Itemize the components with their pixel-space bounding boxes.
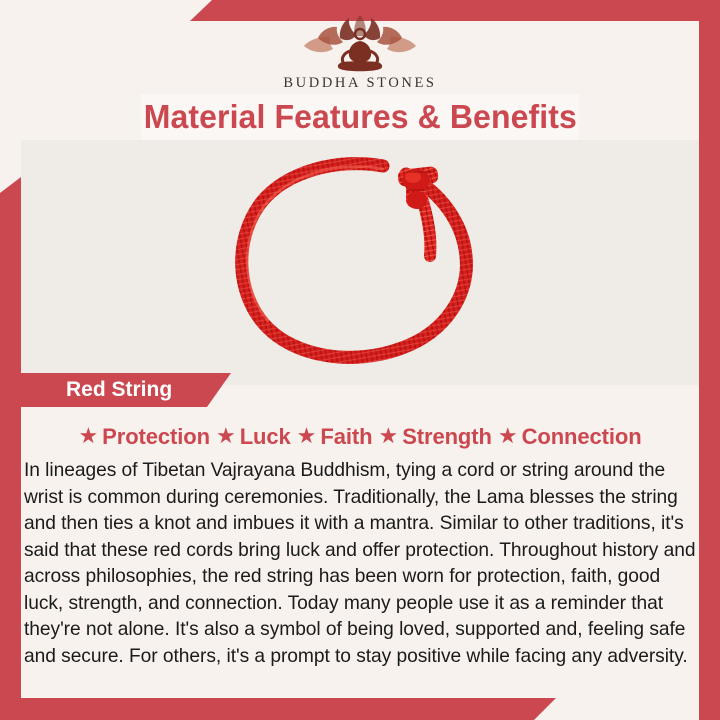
benefit-label: Strength [402,424,492,450]
description-block: In lineages of Tibetan Vajrayana Buddhis… [24,458,696,670]
benefit-label: Protection [102,424,210,450]
benefit-item-luck: ★ Luck [213,424,294,450]
benefit-item-connection: ★ Connection [495,424,645,450]
decor-bottom-bar [0,698,556,720]
description-text: In lineages of Tibetan Vajrayana Buddhis… [24,458,696,670]
star-icon: ★ [216,425,236,447]
benefit-item-protection: ★ Protection [75,424,213,450]
star-icon: ★ [378,425,398,447]
decor-left-bar [0,177,21,720]
product-image-panel [21,140,699,385]
benefit-label: Luck [240,424,291,450]
red-braided-string-bracelet [220,152,500,372]
product-name-label: Red String [21,378,172,402]
star-icon: ★ [78,425,98,447]
product-name-ribbon: Red String [21,373,231,407]
benefit-item-faith: ★ Faith [294,424,376,450]
decor-right-bar [699,21,720,720]
page-title: Material Features & Benefits [143,98,576,136]
benefit-label: Faith [320,424,372,450]
benefit-item-strength: ★ Strength [375,424,494,450]
benefit-label: Connection [522,424,642,450]
brand-logo-block: BUDDHA STONES [0,14,720,92]
star-icon: ★ [297,425,317,447]
poster-root: BUDDHA STONES Material Features & Benefi… [0,0,720,720]
lotus-meditation-figure-icon [301,14,419,72]
title-banner: Material Features & Benefits [141,94,579,140]
brand-wordmark: BUDDHA STONES [0,75,720,92]
benefits-list: ★ Protection ★ Luck ★ Faith ★ Strength ★… [21,420,699,454]
star-icon: ★ [498,425,518,447]
